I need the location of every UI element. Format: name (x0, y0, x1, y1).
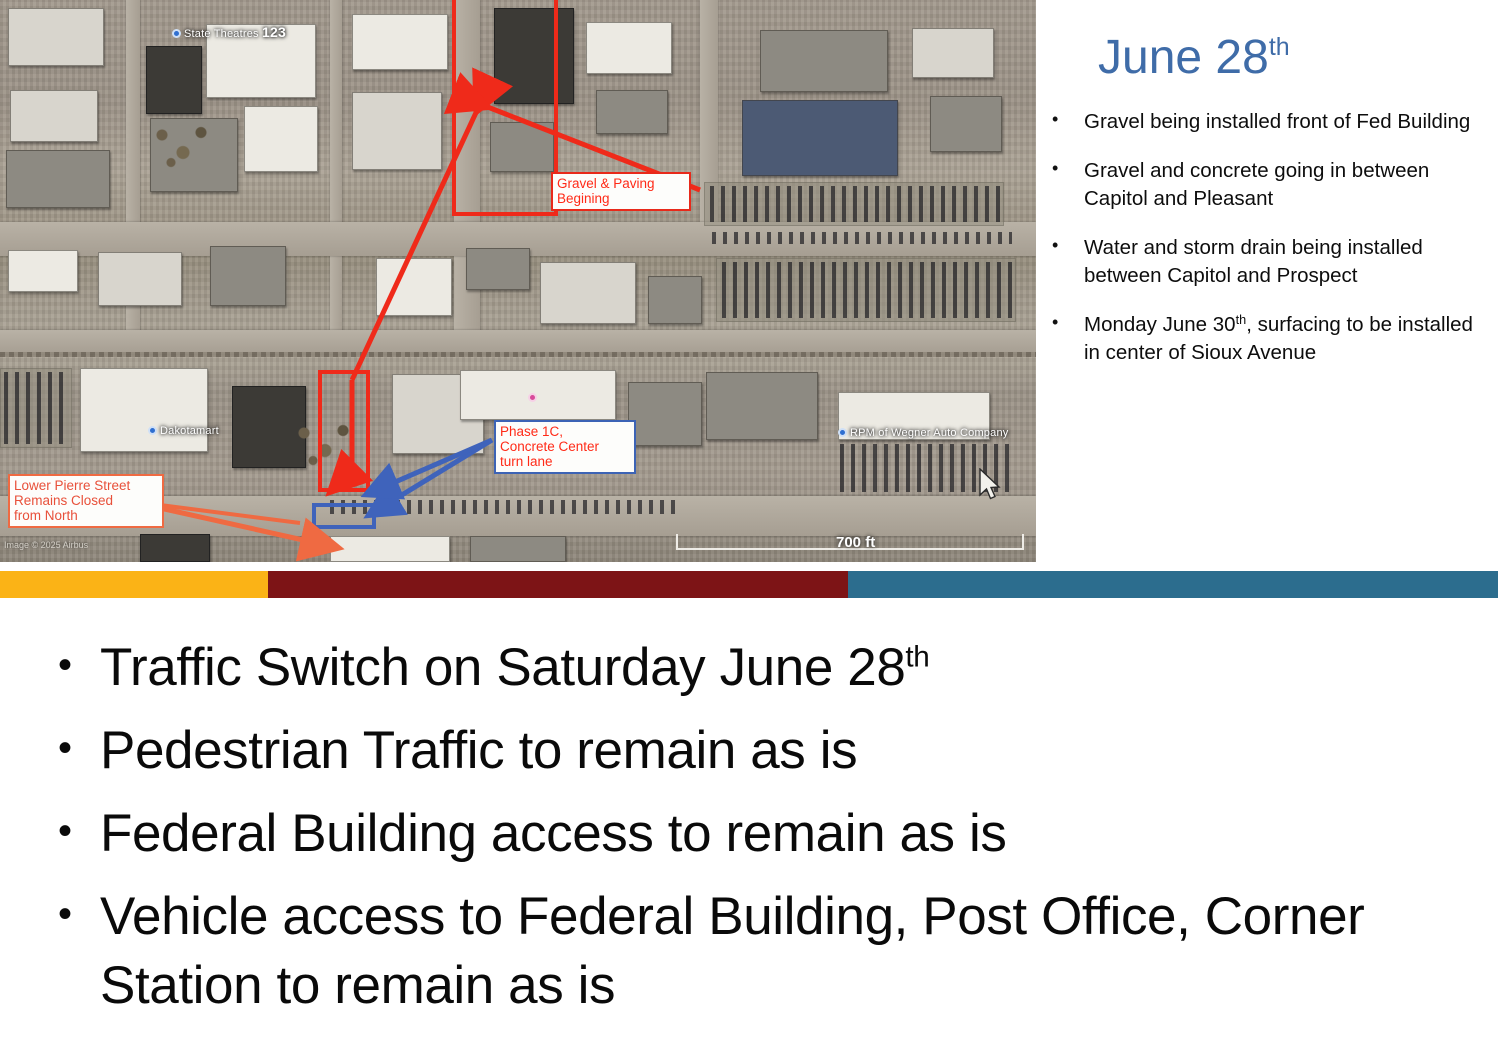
bullet-ordinal: th (1236, 312, 1247, 327)
map-pin-icon (148, 426, 157, 435)
mouse-cursor-icon (978, 468, 1004, 502)
building (244, 106, 318, 172)
list-item: Pedestrian Traffic to remain as is (44, 717, 1468, 786)
building (648, 276, 702, 324)
vehicles-on-road (330, 500, 680, 514)
list-item: Water and storm drain being installed be… (1040, 234, 1490, 289)
bullet-text-pre: Traffic Switch on Saturday June 28 (100, 638, 905, 697)
building (470, 536, 566, 562)
building-federal (742, 100, 898, 176)
building (98, 252, 182, 306)
building (376, 258, 452, 316)
list-item: Gravel and concrete going in between Cap… (1040, 157, 1490, 212)
divider-segment-dark-red (268, 571, 848, 598)
map-pin-icon (172, 29, 181, 38)
building (494, 8, 574, 104)
top-section: State Theatres 123 Dakotamart RPM of Weg… (0, 0, 1498, 565)
map-scale-label: 700 ft (836, 534, 875, 551)
building (490, 122, 554, 172)
page-title-text: June 28 (1098, 31, 1269, 84)
color-divider-bar (0, 571, 1498, 598)
railroad-track (0, 352, 1036, 357)
bullet-text-pre: Monday June 30 (1084, 313, 1236, 336)
trees (150, 120, 210, 170)
right-text-panel: June 28th Gravel being installed front o… (1040, 0, 1498, 565)
map-pin-icon (528, 393, 537, 402)
building (628, 382, 702, 446)
building (352, 14, 448, 70)
poi-state-theatres[interactable]: State Theatres 123 (172, 24, 286, 40)
list-item: Monday June 30th, surfacing to be instal… (1040, 311, 1490, 366)
building (352, 92, 442, 170)
bullet-text-pre: Pedestrian Traffic to remain as is (100, 721, 857, 780)
trees (292, 418, 352, 468)
bullet-text-pre: Federal Building access to remain as is (100, 804, 1006, 863)
poi-dakotamart[interactable]: Dakotamart (148, 425, 219, 437)
building (8, 8, 104, 66)
poi-label: RPM of Wegner Auto Company (850, 427, 1008, 439)
poi-label-number: 123 (262, 24, 286, 40)
aerial-map[interactable]: State Theatres 123 Dakotamart RPM of Weg… (0, 0, 1036, 562)
building (10, 90, 98, 142)
map-pin-icon (838, 428, 847, 437)
building (330, 536, 450, 562)
building (140, 534, 210, 562)
bullet-text-pre: Vehicle access to Federal Building, Post… (100, 887, 1364, 1015)
right-panel-bullet-list: Gravel being installed front of Fed Buil… (1040, 108, 1498, 388)
list-item: Traffic Switch on Saturday June 28th (44, 634, 1468, 703)
list-item: Federal Building access to remain as is (44, 800, 1468, 869)
building (146, 46, 202, 114)
building (586, 22, 672, 74)
building-dakotamart (80, 368, 208, 452)
building (912, 28, 994, 78)
divider-segment-teal (848, 571, 1498, 598)
slide-root: State Theatres 123 Dakotamart RPM of Weg… (0, 0, 1498, 1056)
list-item: Gravel being installed front of Fed Buil… (1040, 108, 1490, 135)
bullet-text: Gravel and concrete going in between Cap… (1084, 159, 1429, 209)
parked-cars (722, 262, 1016, 318)
road-horizontal-mid (0, 330, 1036, 354)
poi-label: State Theatres (184, 28, 259, 40)
parked-cars (712, 232, 1012, 244)
bottom-bullet-list: Traffic Switch on Saturday June 28th Ped… (0, 598, 1498, 1020)
divider-segment-yellow (0, 571, 268, 598)
building (596, 90, 668, 134)
road-vertical-alley (330, 0, 342, 352)
building (8, 250, 78, 292)
bottom-section: Traffic Switch on Saturday June 28th Ped… (0, 598, 1498, 1056)
building (6, 150, 110, 208)
poi-unnamed-pink[interactable] (528, 392, 540, 404)
page-title-ordinal: th (1269, 33, 1290, 61)
building (210, 246, 286, 306)
building (540, 262, 636, 324)
bullet-text: Gravel being installed front of Fed Buil… (1084, 110, 1470, 133)
poi-label: Dakotamart (160, 425, 219, 437)
poi-wegner-auto[interactable]: RPM of Wegner Auto Company (838, 427, 1008, 439)
building (930, 96, 1002, 152)
building (760, 30, 888, 92)
building (706, 372, 818, 440)
parked-cars (710, 186, 1000, 222)
parked-cars (4, 372, 68, 444)
bullet-ordinal: th (905, 641, 929, 674)
building (466, 248, 530, 290)
road-vertical-center (454, 0, 480, 352)
bullet-text: Water and storm drain being installed be… (1084, 236, 1423, 286)
page-title: June 28th (1098, 34, 1290, 82)
map-attribution: Image © 2025 Airbus (4, 540, 88, 550)
list-item: Vehicle access to Federal Building, Post… (44, 883, 1468, 1021)
